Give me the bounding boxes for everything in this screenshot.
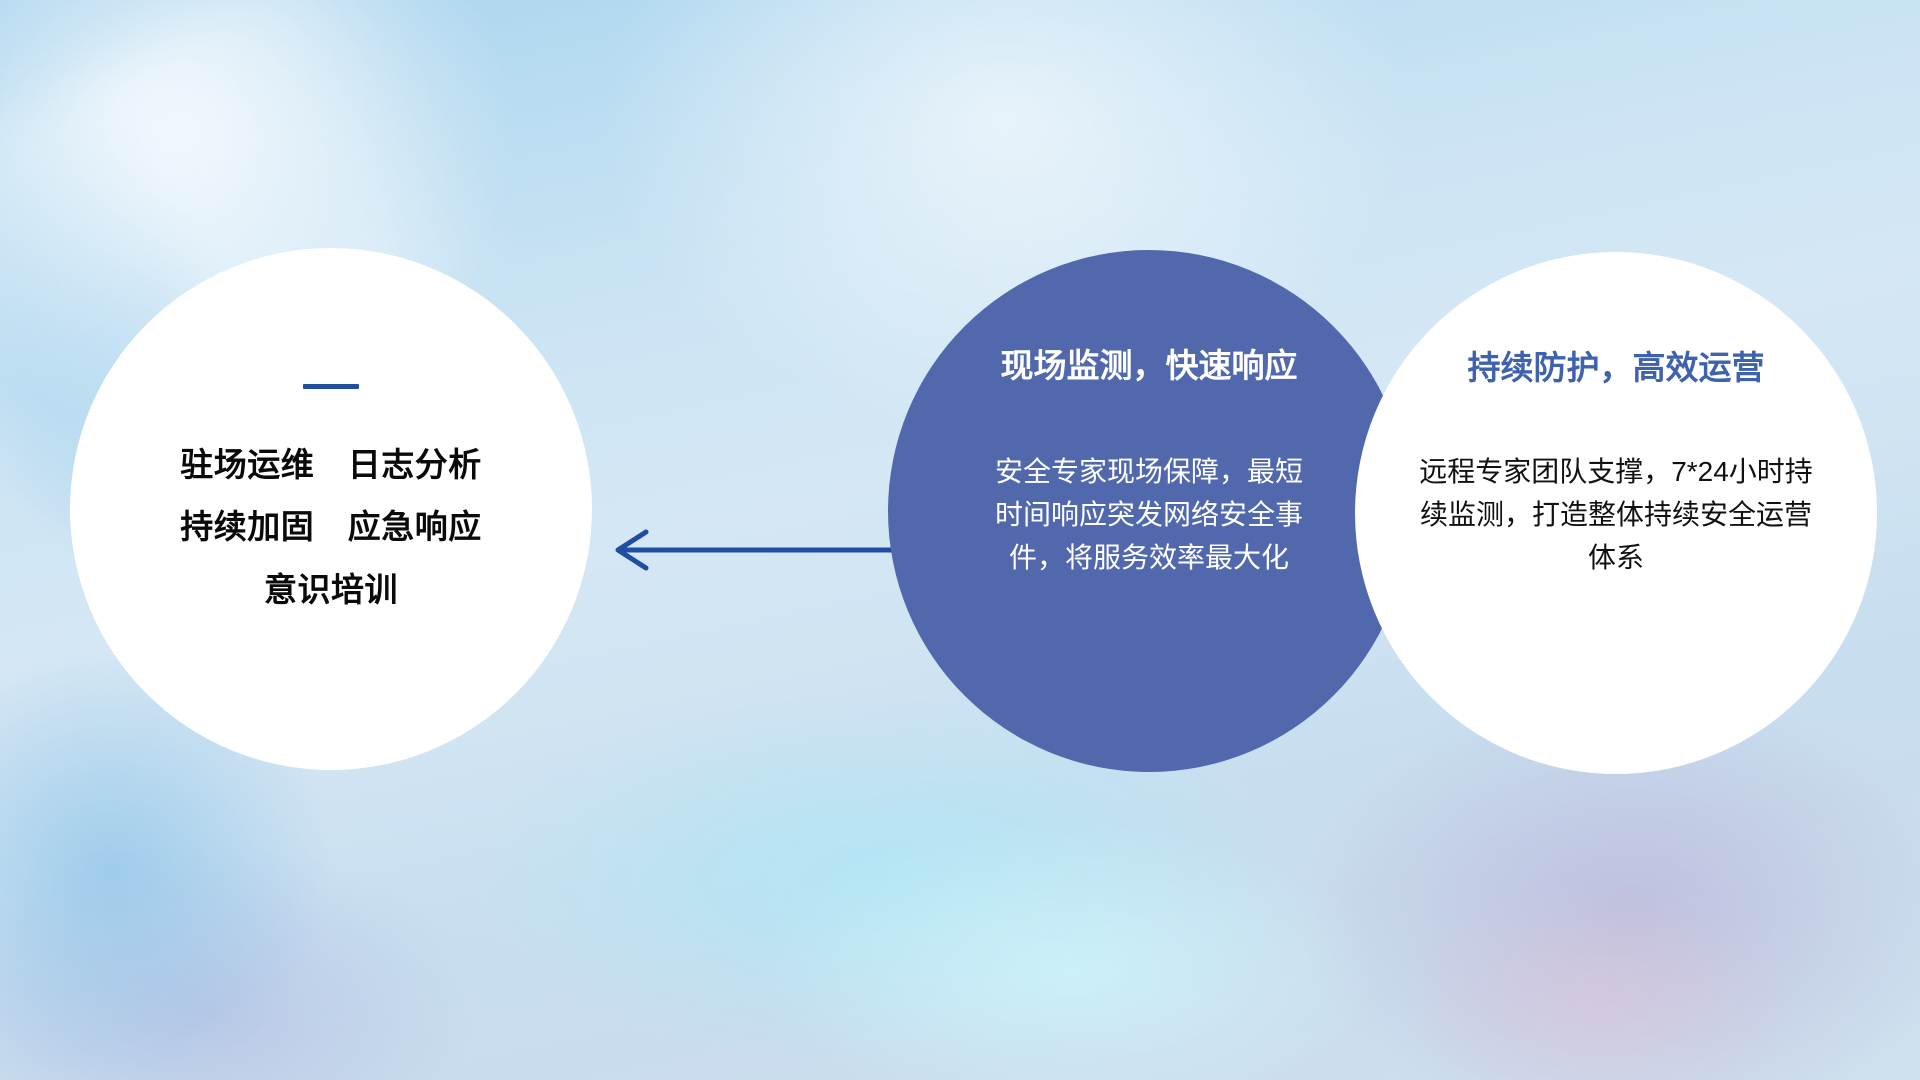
left-circle-card[interactable]: 驻场运维 日志分析 持续加固 应急响应 意识培训 <box>70 248 592 770</box>
right-card-title: 持续防护，高效运营 <box>1468 348 1765 388</box>
center-circle-content: 现场监测，快速响应 安全专家现场保障，最短时间响应突发网络安全事件，将服务效率最… <box>888 250 1410 772</box>
center-card-body: 安全专家现场保障，最短时间响应突发网络安全事件，将服务效率最大化 <box>984 450 1314 580</box>
capability-line-1: 驻场运维 日志分析 <box>180 447 482 483</box>
capability-line-3: 意识培训 <box>264 572 398 608</box>
arrow-left-icon <box>600 520 900 580</box>
capability-line-2: 持续加固 应急响应 <box>180 509 482 545</box>
right-circle-card[interactable]: 持续防护，高效运营 远程专家团队支撑，7*24小时持续监测，打造整体持续安全运营… <box>1355 252 1877 774</box>
right-circle-content: 持续防护，高效运营 远程专家团队支撑，7*24小时持续监测，打造整体持续安全运营… <box>1355 252 1877 774</box>
slide-canvas: 驻场运维 日志分析 持续加固 应急响应 意识培训 现场监测，快速响应 安全专家现… <box>0 0 1920 1080</box>
center-card-title: 现场监测，快速响应 <box>1001 346 1298 386</box>
accent-divider <box>303 384 359 389</box>
left-circle-content: 驻场运维 日志分析 持续加固 应急响应 意识培训 <box>70 248 592 770</box>
center-circle-card[interactable]: 现场监测，快速响应 安全专家现场保障，最短时间响应突发网络安全事件，将服务效率最… <box>888 250 1410 772</box>
background-glow-pink <box>1320 830 1880 1080</box>
capability-list: 驻场运维 日志分析 持续加固 应急响应 意识培训 <box>180 447 482 608</box>
right-card-body: 远程专家团队支撑，7*24小时持续监测，打造整体持续安全运营体系 <box>1416 450 1816 580</box>
